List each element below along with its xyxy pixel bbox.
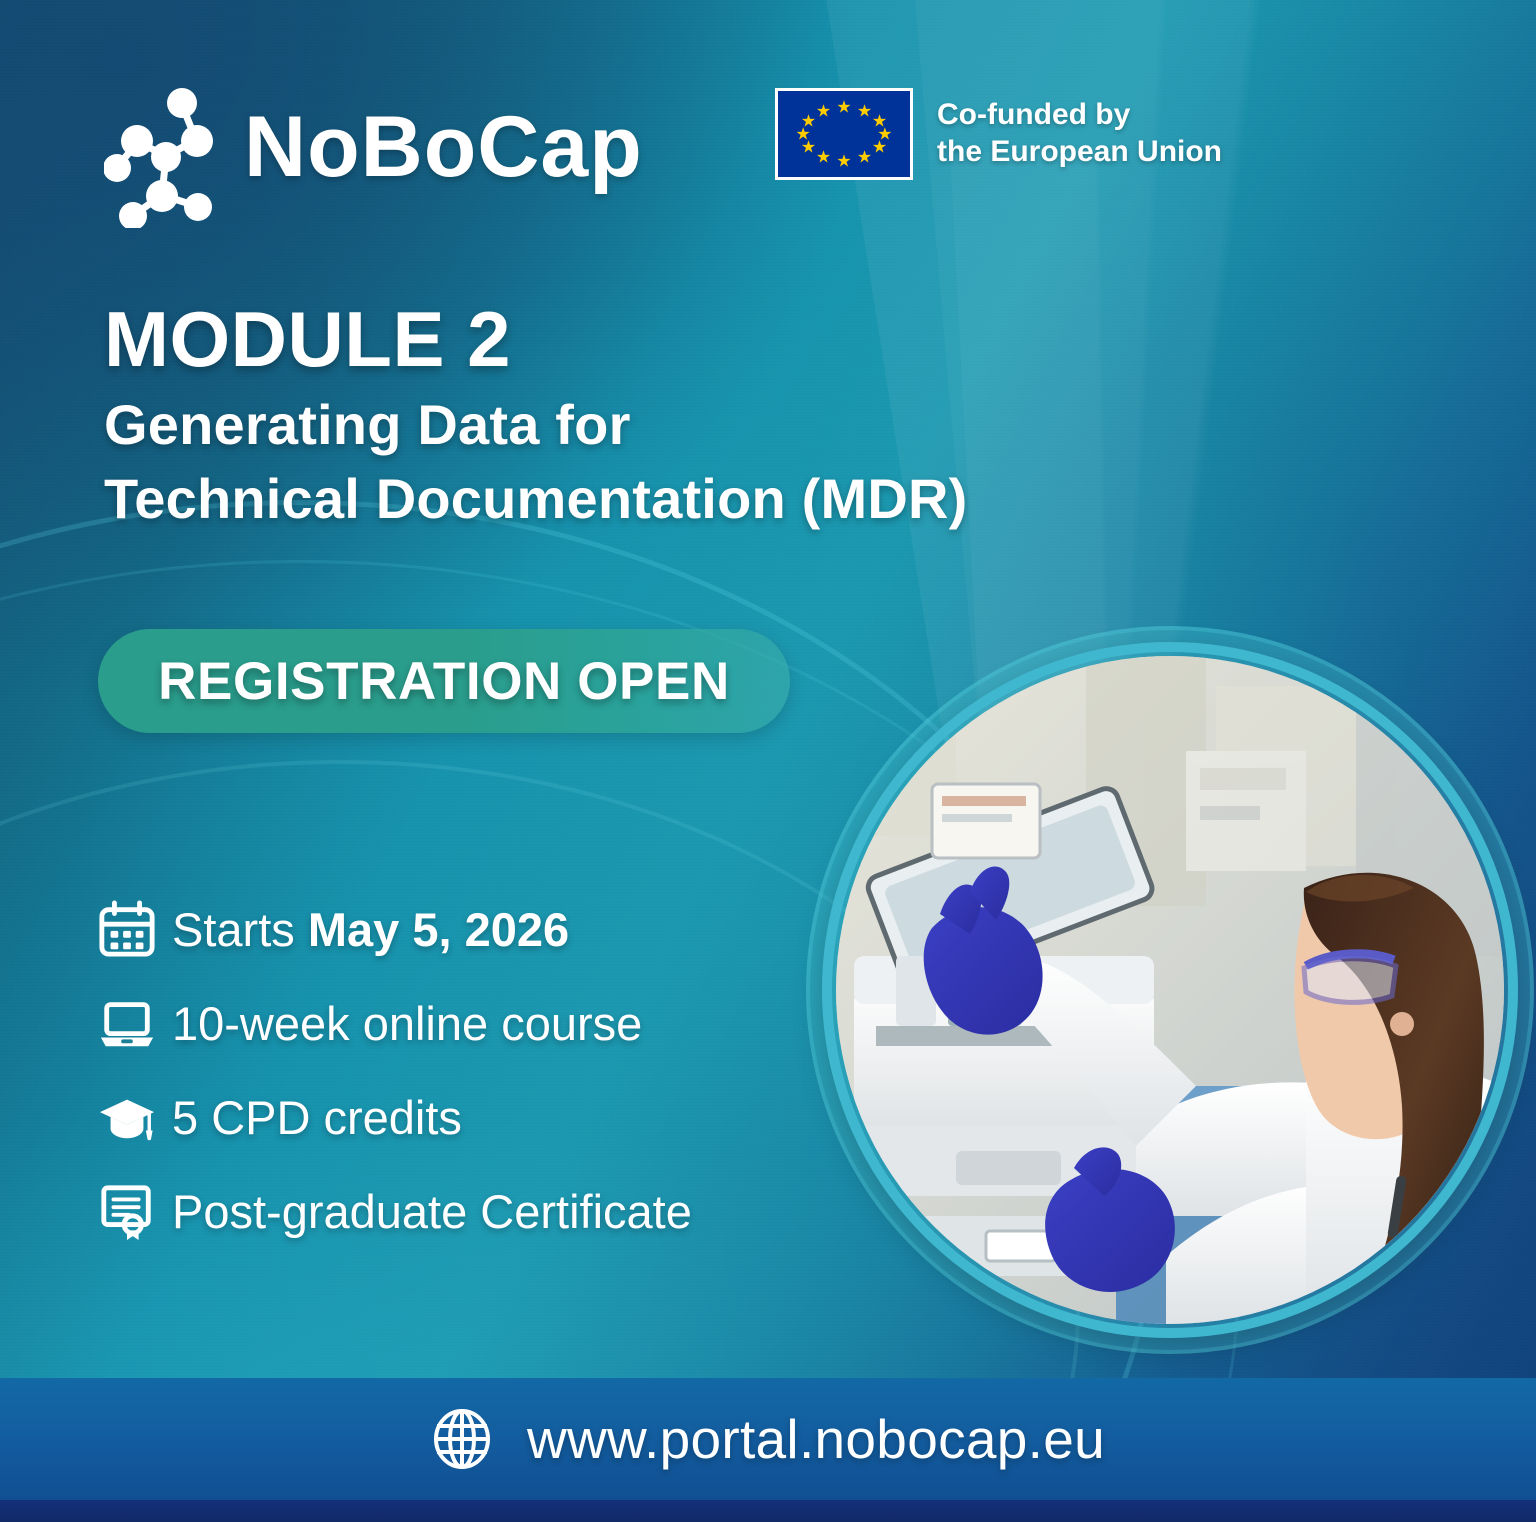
feature-label: Starts May 5, 2026 xyxy=(172,906,569,953)
feature-row: 5 CPD credits xyxy=(98,1073,858,1161)
footer-bar: www.portal.nobocap.eu xyxy=(0,1378,1536,1500)
feature-label: 5 CPD credits xyxy=(172,1094,462,1141)
feature-row: Post-graduate Certificate xyxy=(98,1167,858,1255)
brand-name: NoBoCap xyxy=(244,104,643,202)
eu-star: ★ xyxy=(836,152,851,169)
promo-poster: NoBoCap ★★★★★★★★★★★★ Co-funded by the Eu… xyxy=(0,0,1536,1522)
feature-label: 10-week online course xyxy=(172,1000,642,1047)
website-url[interactable]: www.portal.nobocap.eu xyxy=(527,1407,1105,1471)
feature-row: 10-week online course xyxy=(98,979,858,1067)
eu-star: ★ xyxy=(857,102,872,119)
photo-outer-ring xyxy=(806,626,1534,1354)
feature-label-prefix: Starts xyxy=(172,903,308,956)
certificate-icon xyxy=(98,1182,172,1240)
feature-label: Post-graduate Certificate xyxy=(172,1188,692,1235)
module-title: MODULE 2 xyxy=(104,300,1204,378)
laboratory-scientist-photo xyxy=(836,656,1504,1324)
eu-funding-text: Co-funded by the European Union xyxy=(937,97,1222,170)
header: NoBoCap ★★★★★★★★★★★★ Co-funded by the Eu… xyxy=(0,66,1536,216)
course-details-list: Starts May 5, 202610-week online course5… xyxy=(98,885,858,1261)
eu-star: ★ xyxy=(816,149,831,166)
eu-funding-notice: ★★★★★★★★★★★★ Co-funded by the European U… xyxy=(775,88,1222,180)
eu-star: ★ xyxy=(857,149,872,166)
laptop-icon xyxy=(98,994,172,1052)
molecule-icon xyxy=(104,78,228,228)
registration-badge-label: REGISTRATION OPEN xyxy=(158,651,730,712)
feature-label-strong: May 5, 2026 xyxy=(308,903,569,956)
course-subtitle-line-1: Generating Data for xyxy=(104,388,1204,462)
eu-star: ★ xyxy=(872,139,887,156)
brand-logo: NoBoCap xyxy=(104,78,643,228)
globe-icon xyxy=(431,1408,493,1470)
eu-star: ★ xyxy=(836,99,851,116)
course-subtitle-line-2: Technical Documentation (MDR) xyxy=(104,462,1204,536)
feature-row: Starts May 5, 2026 xyxy=(98,885,858,973)
eu-funding-line-1: Co-funded by xyxy=(937,97,1222,134)
registration-open-badge[interactable]: REGISTRATION OPEN xyxy=(98,629,790,733)
footer-bottom-strip xyxy=(0,1500,1536,1522)
eu-flag-icon: ★★★★★★★★★★★★ xyxy=(775,88,913,180)
eu-star: ★ xyxy=(816,102,831,119)
headline-block: MODULE 2 Generating Data for Technical D… xyxy=(104,300,1204,536)
eu-star: ★ xyxy=(801,112,816,129)
eu-funding-line-2: the European Union xyxy=(937,134,1222,171)
calendar-icon xyxy=(98,900,172,958)
graduation-cap-icon xyxy=(98,1088,172,1146)
